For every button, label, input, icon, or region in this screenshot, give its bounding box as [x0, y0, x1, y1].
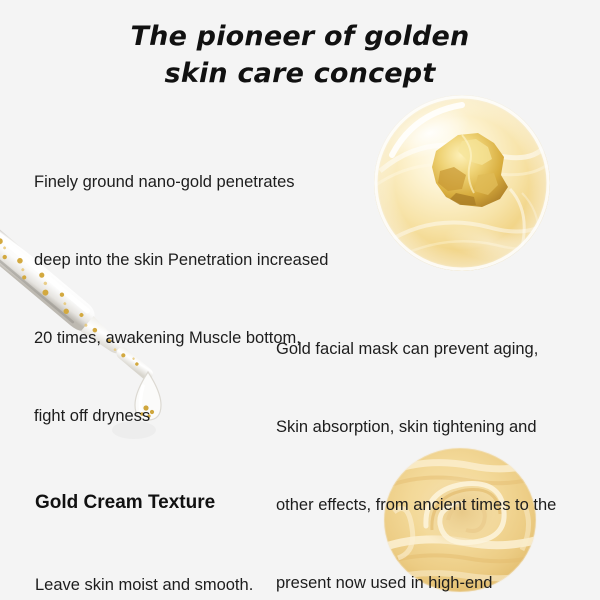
- paragraph-nano-gold-line-2: deep into the skin Penetration increased: [34, 247, 364, 273]
- paragraph-gold-facial-mask: Gold facial mask can prevent aging, Skin…: [276, 284, 596, 600]
- paragraph-gold-facial-mask-line-1: Gold facial mask can prevent aging,: [276, 336, 596, 362]
- gold-cream-texture-block: Gold Cream Texture Leave skin moist and …: [35, 490, 267, 600]
- page-title-line-1: The pioneer of golden: [0, 18, 600, 55]
- product-infographic-page: The pioneer of golden skin care concept …: [0, 0, 600, 600]
- gold-sphere-image: [370, 93, 554, 275]
- page-title: The pioneer of golden skin care concept: [0, 18, 600, 92]
- gold-cream-texture-heading: Gold Cream Texture: [35, 490, 267, 516]
- paragraph-gold-facial-mask-line-3: other effects, from ancient times to the: [276, 492, 596, 518]
- page-title-line-2: skin care concept: [0, 55, 600, 92]
- gold-cream-texture-description: Leave skin moist and smooth. Leave skin …: [35, 520, 267, 600]
- paragraph-nano-gold-line-1: Finely ground nano-gold penetrates: [34, 169, 364, 195]
- gold-cream-texture-line-1: Leave skin moist and smooth.: [35, 572, 267, 598]
- paragraph-gold-facial-mask-line-4: present now used in high-end: [276, 570, 596, 596]
- paragraph-gold-facial-mask-line-2: Skin absorption, skin tightening and: [276, 414, 596, 440]
